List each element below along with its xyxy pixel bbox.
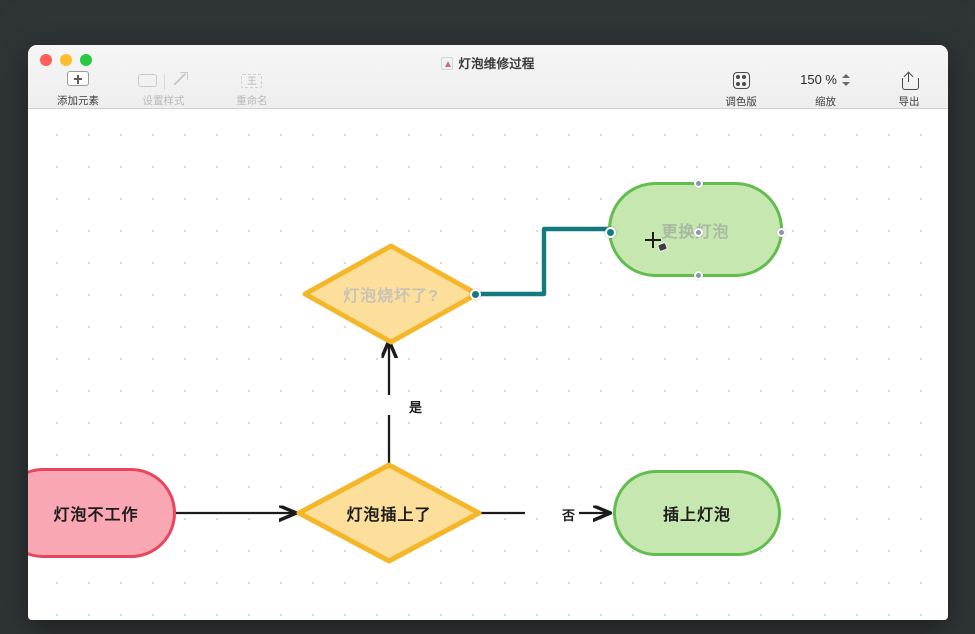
node-bulb-plugged-label: 灯泡插上了 [295,461,483,565]
zoom-control[interactable]: 150 % [800,71,851,88]
toolbar-right-group: 调色版 150 % 缩放 导出 [711,71,938,110]
toolbar-export-label: 导出 [886,94,932,109]
node-bulb-burned-out[interactable]: 灯泡烧坏了? [301,242,481,346]
connector-anchor-source[interactable] [470,289,481,300]
toolbar-left-group: 添加元素 设置样式 王 重命名 [42,71,291,109]
node-replace-bulb[interactable]: 更换灯泡 [608,182,783,277]
toolbar-zoom[interactable]: 150 % 缩放 [776,71,876,109]
node-bulb-plugged[interactable]: 灯泡插上了 [295,461,483,565]
node-bulb-burned-out-label: 灯泡烧坏了? [301,242,481,346]
toolbar-export[interactable]: 导出 [880,72,938,109]
plus-square-icon [48,71,108,88]
toolbar-zoom-label: 缩放 [782,94,870,109]
window-chrome: 灯泡维修过程 添加元素 设置样式 王 [28,45,948,109]
arrow-icon [173,71,189,87]
window-title-text: 灯泡维修过程 [458,57,534,71]
node-bulb-not-working[interactable]: 灯泡不工作 [28,468,176,558]
app-window: 灯泡维修过程 添加元素 设置样式 王 [28,45,948,620]
toolbar-rename-label: 重命名 [219,93,285,108]
connector-anchor-target[interactable] [605,227,616,238]
resize-handle-bottom[interactable] [694,271,703,280]
toolbar-palette-label: 调色版 [717,94,765,109]
diagram-canvas[interactable]: 否 是 灯泡不工作 灯泡插上了 插上灯泡 灯泡 [28,109,948,620]
rectangle-icon [138,74,157,87]
move-handle-center[interactable] [694,228,703,237]
resize-handle-top[interactable] [694,179,703,188]
document-icon [441,57,453,70]
toolbar-palette[interactable]: 调色版 [711,72,771,109]
node-plug-in-bulb-label: 插上灯泡 [616,473,778,553]
toolbar-add-element-label: 添加元素 [48,93,108,108]
resize-handle-right[interactable] [777,228,786,237]
toolbar-set-style[interactable]: 设置样式 [118,71,208,108]
desktop-background: 灯泡维修过程 添加元素 设置样式 王 [0,0,975,634]
rename-textbox-icon: 王 [219,71,285,88]
node-plug-in-bulb[interactable]: 插上灯泡 [613,470,781,556]
toolbar-divider [164,74,165,90]
toolbar-rename[interactable]: 王 重命名 [213,71,291,108]
stepper-icon[interactable] [842,72,851,88]
toolbar-add-element[interactable]: 添加元素 [42,71,114,108]
edge-label-no: 否 [558,504,579,525]
export-icon [886,72,932,89]
palette-icon [717,72,765,89]
edge-label-yes: 是 [405,396,426,417]
window-title: 灯泡维修过程 [28,53,948,72]
toolbar-set-style-label: 设置样式 [124,93,202,108]
zoom-value: 150 % [800,71,837,88]
node-bulb-not-working-label: 灯泡不工作 [28,471,173,555]
